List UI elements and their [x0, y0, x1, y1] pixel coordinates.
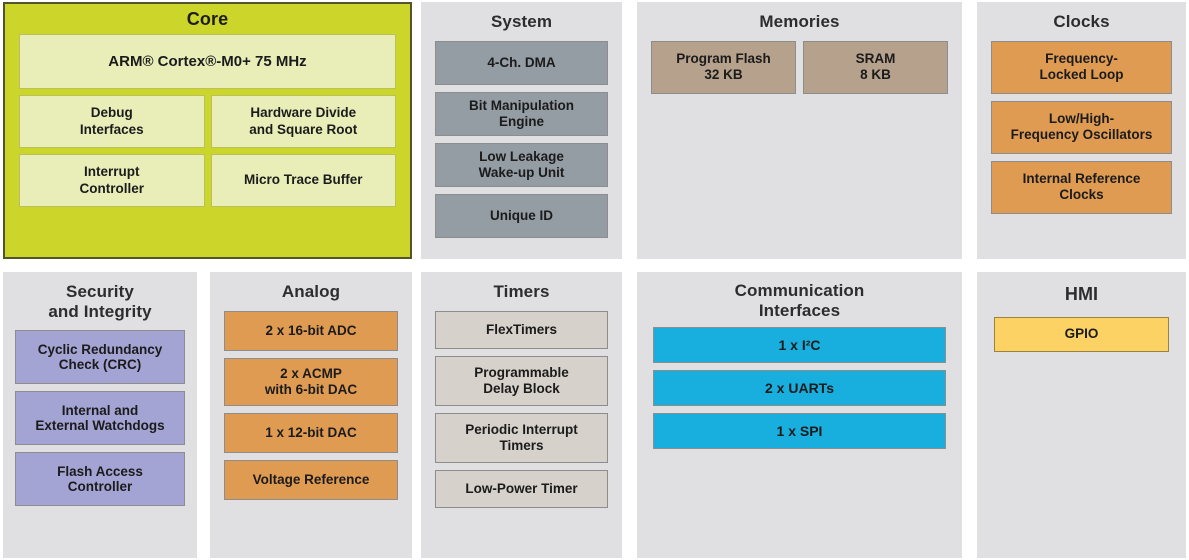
panel-timers: Timers FlexTimers ProgrammableDelay Bloc…: [421, 272, 622, 558]
block-label: ARM® Cortex®-M0+ 75 MHz: [108, 53, 306, 71]
panel-core-title: Core: [5, 4, 410, 34]
hmi-block-group: GPIO: [977, 317, 1186, 352]
block-label: 2 x UARTs: [765, 380, 834, 397]
block-internal-and-external-watchdogs[interactable]: Internal andExternal Watchdogs: [15, 391, 185, 445]
clocks-block-group: Frequency-Locked Loop Low/High-Frequency…: [977, 41, 1186, 214]
panel-hmi: HMI GPIO: [977, 272, 1186, 558]
block-flextimers[interactable]: FlexTimers: [435, 311, 608, 349]
block-label: Low-Power Timer: [465, 481, 577, 497]
block-low-high-frequency-oscillators[interactable]: Low/High-Frequency Oscillators: [991, 101, 1172, 154]
block-label: Periodic InterruptTimers: [465, 422, 578, 454]
block-interrupt-controller[interactable]: InterruptController: [19, 154, 205, 207]
block-label: Voltage Reference: [253, 472, 370, 488]
panel-memories: Memories Program Flash32 KB SRAM8 KB: [637, 2, 962, 259]
block-program-flash[interactable]: Program Flash32 KB: [651, 41, 796, 94]
block-2x-acmp-with-6-bit-dac[interactable]: 2 x ACMPwith 6-bit DAC: [224, 358, 398, 406]
panel-analog: Analog 2 x 16-bit ADC 2 x ACMPwith 6-bit…: [210, 272, 412, 558]
core-block-group: ARM® Cortex®-M0+ 75 MHz DebugInterfaces …: [5, 34, 410, 207]
block-label: FlexTimers: [486, 322, 557, 338]
block-label: Flash AccessController: [57, 464, 143, 496]
panel-hmi-title: HMI: [977, 272, 1186, 317]
block-label: 1 x 12-bit DAC: [265, 425, 357, 441]
block-cyclic-redundancy-check[interactable]: Cyclic RedundancyCheck (CRC): [15, 330, 185, 384]
block-label: Program Flash32 KB: [676, 51, 771, 83]
panel-clocks-title: Clocks: [977, 2, 1186, 41]
block-label: 2 x 16-bit ADC: [265, 323, 356, 339]
block-label: Hardware Divideand Square Root: [249, 105, 357, 137]
block-voltage-reference[interactable]: Voltage Reference: [224, 460, 398, 500]
block-low-leakage-wake-up-unit[interactable]: Low LeakageWake-up Unit: [435, 143, 608, 187]
panel-communication-title: CommunicationInterfaces: [637, 272, 962, 327]
panel-security-title: Securityand Integrity: [3, 272, 197, 330]
block-2x-uarts[interactable]: 2 x UARTs: [653, 370, 946, 406]
panel-analog-title: Analog: [210, 272, 412, 311]
block-programmable-delay-block[interactable]: ProgrammableDelay Block: [435, 356, 608, 406]
panel-system-title: System: [421, 2, 622, 41]
block-hardware-divide-and-square-root[interactable]: Hardware Divideand Square Root: [211, 95, 397, 148]
memories-block-group: Program Flash32 KB SRAM8 KB: [637, 41, 962, 94]
block-label: ProgrammableDelay Block: [474, 365, 569, 397]
core-row-2: InterruptController Micro Trace Buffer: [19, 154, 396, 207]
block-periodic-interrupt-timers[interactable]: Periodic InterruptTimers: [435, 413, 608, 463]
security-block-group: Cyclic RedundancyCheck (CRC) Internal an…: [3, 330, 197, 506]
block-2x-16-bit-adc[interactable]: 2 x 16-bit ADC: [224, 311, 398, 351]
block-label: Internal ReferenceClocks: [1023, 171, 1141, 203]
block-label: Micro Trace Buffer: [244, 172, 363, 188]
block-label: 4-Ch. DMA: [487, 55, 555, 71]
block-label: Bit ManipulationEngine: [469, 98, 574, 130]
block-4-ch-dma[interactable]: 4-Ch. DMA: [435, 41, 608, 85]
block-gpio[interactable]: GPIO: [994, 317, 1169, 352]
block-label: Low LeakageWake-up Unit: [479, 149, 565, 181]
block-label: Low/High-Frequency Oscillators: [1011, 111, 1153, 143]
block-internal-reference-clocks[interactable]: Internal ReferenceClocks: [991, 161, 1172, 214]
block-label: SRAM8 KB: [856, 51, 896, 83]
block-label: 1 x I²C: [778, 337, 820, 354]
system-block-group: 4-Ch. DMA Bit ManipulationEngine Low Lea…: [421, 41, 622, 238]
block-flash-access-controller[interactable]: Flash AccessController: [15, 452, 185, 506]
block-1x-i2c[interactable]: 1 x I²C: [653, 327, 946, 363]
block-label: GPIO: [1065, 326, 1099, 342]
panel-memories-title: Memories: [637, 2, 962, 41]
block-sram[interactable]: SRAM8 KB: [803, 41, 948, 94]
block-unique-id[interactable]: Unique ID: [435, 194, 608, 238]
block-label: Internal andExternal Watchdogs: [35, 403, 164, 435]
block-label: Frequency-Locked Loop: [1040, 51, 1124, 83]
block-arm-cortex-m0plus[interactable]: ARM® Cortex®-M0+ 75 MHz: [19, 34, 396, 89]
panel-system: System 4-Ch. DMA Bit ManipulationEngine …: [421, 2, 622, 259]
panel-communication-interfaces: CommunicationInterfaces 1 x I²C 2 x UART…: [637, 272, 962, 558]
block-micro-trace-buffer[interactable]: Micro Trace Buffer: [211, 154, 397, 207]
panel-clocks: Clocks Frequency-Locked Loop Low/High-Fr…: [977, 2, 1186, 259]
panel-timers-title: Timers: [421, 272, 622, 311]
block-low-power-timer[interactable]: Low-Power Timer: [435, 470, 608, 508]
communication-block-group: 1 x I²C 2 x UARTs 1 x SPI: [637, 327, 962, 449]
block-label: InterruptController: [79, 164, 144, 196]
mcu-block-diagram: Core ARM® Cortex®-M0+ 75 MHz DebugInterf…: [0, 0, 1189, 560]
block-frequency-locked-loop[interactable]: Frequency-Locked Loop: [991, 41, 1172, 94]
panel-core: Core ARM® Cortex®-M0+ 75 MHz DebugInterf…: [3, 2, 412, 259]
block-debug-interfaces[interactable]: DebugInterfaces: [19, 95, 205, 148]
panel-security-and-integrity: Securityand Integrity Cyclic RedundancyC…: [3, 272, 197, 558]
block-1x-12-bit-dac[interactable]: 1 x 12-bit DAC: [224, 413, 398, 453]
timers-block-group: FlexTimers ProgrammableDelay Block Perio…: [421, 311, 622, 508]
block-1x-spi[interactable]: 1 x SPI: [653, 413, 946, 449]
block-bit-manipulation-engine[interactable]: Bit ManipulationEngine: [435, 92, 608, 136]
block-label: 2 x ACMPwith 6-bit DAC: [265, 366, 357, 398]
analog-block-group: 2 x 16-bit ADC 2 x ACMPwith 6-bit DAC 1 …: [210, 311, 412, 500]
core-row-1: DebugInterfaces Hardware Divideand Squar…: [19, 95, 396, 148]
block-label: 1 x SPI: [777, 423, 823, 440]
block-label: Cyclic RedundancyCheck (CRC): [38, 342, 163, 374]
block-label: Unique ID: [490, 208, 553, 224]
block-label: DebugInterfaces: [80, 105, 144, 137]
